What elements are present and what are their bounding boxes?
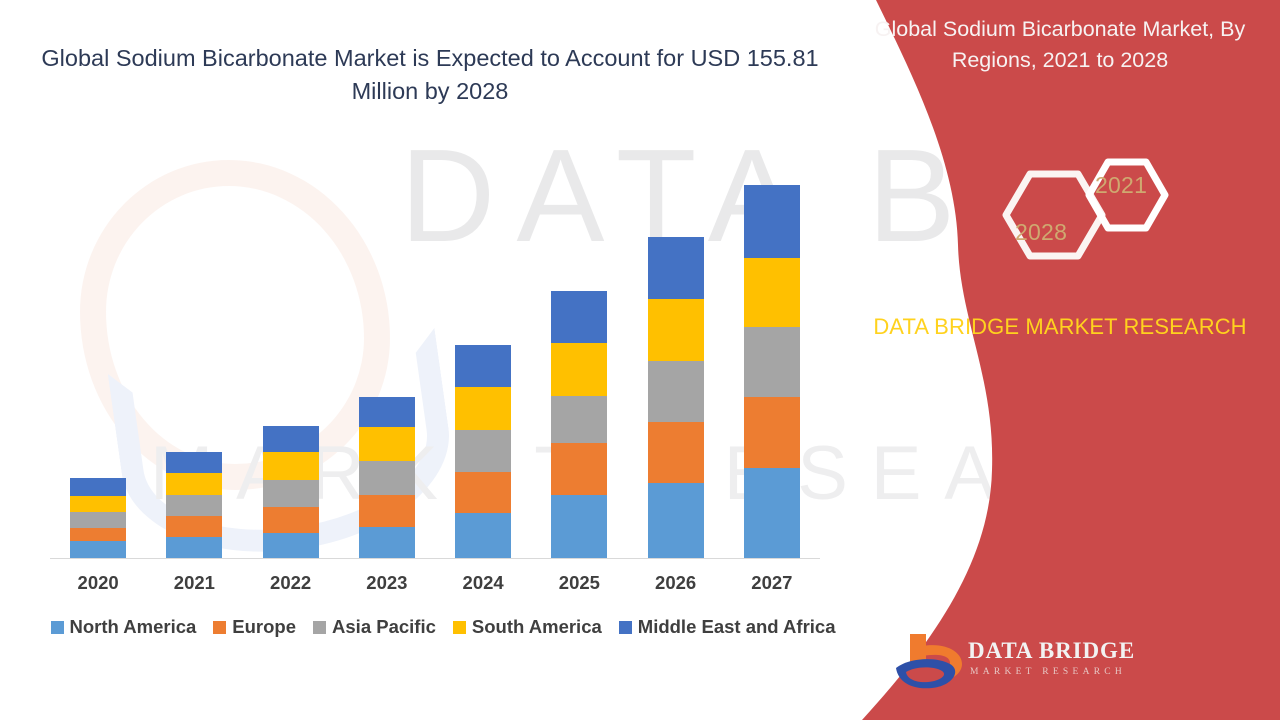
bar-segment[interactable] <box>744 185 800 258</box>
brand-panel: Global Sodium Bicarbonate Market, By Reg… <box>840 0 1280 720</box>
brand-panel-content: Global Sodium Bicarbonate Market, By Reg… <box>840 0 1280 720</box>
bar-column-2022[interactable] <box>263 426 319 558</box>
chart-legend: North AmericaEuropeAsia PacificSouth Ame… <box>48 616 838 638</box>
stacked-bar-chart <box>50 160 820 559</box>
bar-segment[interactable] <box>648 422 704 483</box>
bar-segment[interactable] <box>166 516 222 537</box>
year-hexagon-group: 2028 2021 <box>992 150 1192 280</box>
legend-item[interactable]: North America <box>51 616 197 638</box>
x-axis-label-2023: 2023 <box>339 572 435 594</box>
bar-segment[interactable] <box>551 495 607 558</box>
bar-column-2026[interactable] <box>648 237 704 558</box>
bar-segment[interactable] <box>455 472 511 513</box>
x-axis-label-2020: 2020 <box>50 572 146 594</box>
x-axis-label-2025: 2025 <box>531 572 627 594</box>
bar-column-2020[interactable] <box>70 478 126 558</box>
x-axis-label-2021: 2021 <box>146 572 242 594</box>
bar-segment[interactable] <box>551 343 607 396</box>
legend-label: South America <box>472 616 602 638</box>
bar-segment[interactable] <box>744 327 800 397</box>
x-axis-label-2027: 2027 <box>724 572 820 594</box>
chart-panel: Global Sodium Bicarbonate Market is Expe… <box>0 0 860 720</box>
hexagon-label-2028: 2028 <box>1015 219 1067 246</box>
bar-segment[interactable] <box>648 361 704 422</box>
bar-segment[interactable] <box>166 452 222 473</box>
legend-swatch-icon <box>213 621 226 634</box>
bar-segment[interactable] <box>70 541 126 558</box>
legend-item[interactable]: Asia Pacific <box>313 616 436 638</box>
bar-segment[interactable] <box>455 345 511 387</box>
bar-segment[interactable] <box>263 507 319 533</box>
hexagon-label-2021: 2021 <box>1095 172 1147 199</box>
bar-segment[interactable] <box>744 468 800 558</box>
x-axis-label-2022: 2022 <box>243 572 339 594</box>
bar-column-2023[interactable] <box>359 397 415 558</box>
bar-segment[interactable] <box>455 430 511 472</box>
bar-segment[interactable] <box>648 483 704 558</box>
legend-item[interactable]: South America <box>453 616 602 638</box>
x-axis-label-2024: 2024 <box>435 572 531 594</box>
bar-segment[interactable] <box>455 387 511 430</box>
legend-label: Asia Pacific <box>332 616 436 638</box>
bar-segment[interactable] <box>70 528 126 541</box>
x-axis-labels: 20202021202220232024202520262027 <box>50 572 820 598</box>
bar-segment[interactable] <box>648 237 704 299</box>
logo-wordmark: DATA BRIDGE <box>968 638 1135 664</box>
bar-segment[interactable] <box>551 396 607 443</box>
bar-segment[interactable] <box>744 258 800 327</box>
bar-column-2025[interactable] <box>551 291 607 558</box>
bar-segment[interactable] <box>359 461 415 495</box>
bar-segment[interactable] <box>551 291 607 343</box>
brand-logo: DATA BRIDGE MARKET RESEARCH <box>892 628 1122 698</box>
brand-name: DATA BRIDGE MARKET RESEARCH <box>860 311 1260 343</box>
bar-segment[interactable] <box>359 495 415 527</box>
panel-title: Global Sodium Bicarbonate Market, By Reg… <box>860 14 1260 75</box>
bar-column-2021[interactable] <box>166 452 222 558</box>
bar-segment[interactable] <box>359 397 415 427</box>
bar-segment[interactable] <box>166 495 222 516</box>
legend-label: Europe <box>232 616 296 638</box>
bar-segment[interactable] <box>263 533 319 558</box>
bar-segment[interactable] <box>359 427 415 461</box>
bar-segment[interactable] <box>455 513 511 558</box>
legend-swatch-icon <box>453 621 466 634</box>
legend-label: North America <box>70 616 197 638</box>
infographic-canvas: DATA BRIDGE MARKET RESEARCH Global Sodiu… <box>0 0 1280 720</box>
bar-segment[interactable] <box>263 426 319 452</box>
logo-subtext: MARKET RESEARCH <box>970 667 1126 677</box>
bar-segment[interactable] <box>744 397 800 468</box>
bar-segment[interactable] <box>263 452 319 480</box>
x-axis-line <box>50 558 820 559</box>
bar-segment[interactable] <box>70 496 126 512</box>
bar-segment[interactable] <box>551 443 607 495</box>
legend-swatch-icon <box>313 621 326 634</box>
hexagon-outlines-icon <box>992 150 1192 280</box>
legend-swatch-icon <box>619 621 632 634</box>
legend-swatch-icon <box>51 621 64 634</box>
bar-segment[interactable] <box>70 478 126 496</box>
bar-segment[interactable] <box>166 537 222 558</box>
legend-item[interactable]: Europe <box>213 616 296 638</box>
bar-segment[interactable] <box>166 473 222 495</box>
legend-label: Middle East and Africa <box>638 616 836 638</box>
bar-segment[interactable] <box>648 299 704 361</box>
page-title: Global Sodium Bicarbonate Market is Expe… <box>40 42 820 109</box>
x-axis-label-2026: 2026 <box>628 572 724 594</box>
bar-segment[interactable] <box>359 527 415 558</box>
bar-segment[interactable] <box>263 480 319 507</box>
legend-item[interactable]: Middle East and Africa <box>619 616 836 638</box>
bar-column-2027[interactable] <box>744 185 800 558</box>
bar-column-2024[interactable] <box>455 345 511 558</box>
bar-segment[interactable] <box>70 512 126 528</box>
